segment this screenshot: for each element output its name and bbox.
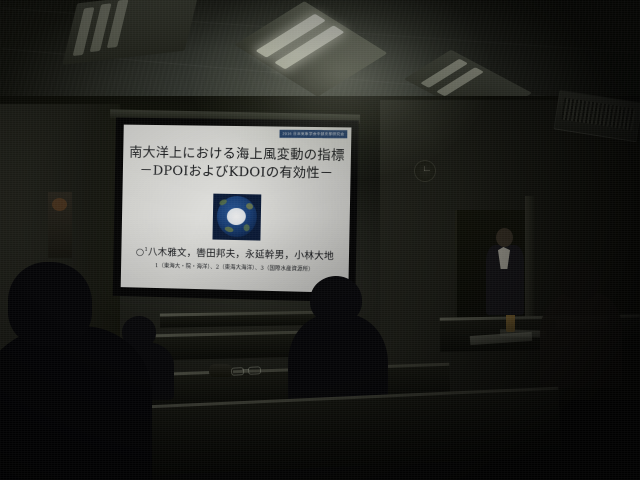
attendee-foreground-left (0, 262, 140, 480)
antarctica-globe-image (212, 194, 261, 241)
presenter (482, 228, 528, 322)
wall-clock (414, 160, 436, 182)
lecture-room-photo: 2016 日本気象学会中部支部研究会 南大洋上における海上風変動の指標 －DPO… (0, 0, 640, 480)
pencil-pouch (209, 364, 233, 377)
projection-screen: 2016 日本気象学会中部支部研究会 南大洋上における海上風変動の指標 －DPO… (113, 118, 359, 303)
attendee-right (536, 262, 622, 382)
presentation-slide: 2016 日本気象学会中部支部研究会 南大洋上における海上風変動の指標 －DPO… (121, 125, 352, 293)
slide-title-line2: －DPOIおよびKDOIの有効性－ (123, 162, 351, 183)
slide-title: 南大洋上における海上風変動の指標 －DPOIおよびKDOIの有効性－ (123, 144, 351, 183)
eyeglasses (231, 366, 261, 374)
author-list: 八木雅文，轡田邦夫，永延幹男，小林大地 (148, 247, 334, 262)
conference-badge: 2016 日本気象学会中部支部研究会 (279, 130, 347, 139)
slide-authors: ○1八木雅文，轡田邦夫，永延幹男，小林大地 1（東海大・院・海洋）、2（東海大海… (121, 244, 349, 274)
slide-title-line1: 南大洋上における海上風変動の指標 (123, 144, 351, 165)
author-affiliations: 1（東海大・院・海洋）、2（東海大海洋）、3（国際水産資源所） (121, 260, 349, 273)
wall-poster (48, 192, 72, 258)
author-names: ○1八木雅文，轡田邦夫，永延幹男，小林大地 (121, 244, 349, 263)
